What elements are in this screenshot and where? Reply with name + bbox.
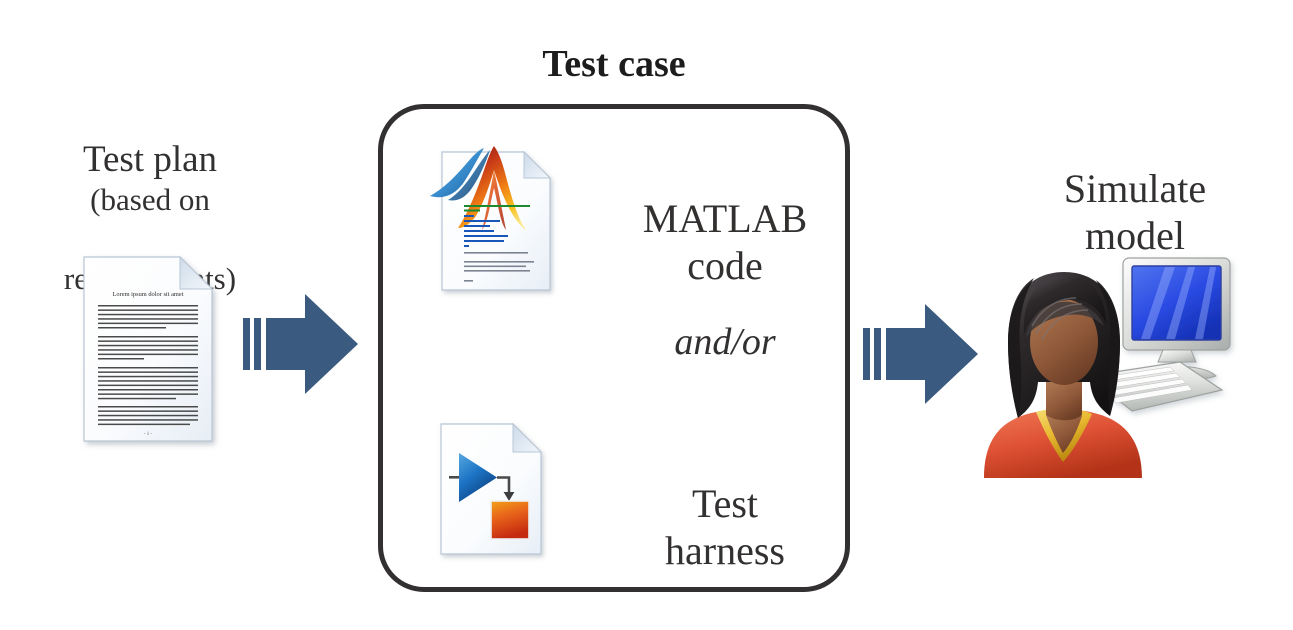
matlab-code-label: MATLAB code: [600, 150, 850, 336]
user-at-computer-icon: [960, 250, 1260, 480]
test-harness-label-line1: Test: [692, 481, 758, 526]
matlab-code-label-line1: MATLAB: [643, 196, 807, 241]
diagram-canvas: Test plan (based on requirements): [0, 0, 1293, 630]
document-title: Lorem ipsum dolor sit amet: [113, 291, 184, 298]
matlab-code-label-line2: code: [600, 243, 850, 289]
and-or-label: and/or: [600, 320, 850, 364]
test-plan-label-line2: (based on: [0, 182, 300, 218]
document-icon: Lorem ipsum dolor sit amet -: [82, 255, 218, 445]
test-case-title: Test case: [378, 42, 850, 86]
matlab-file-icon: [428, 144, 558, 296]
test-plan-label-line1: Test plan: [83, 139, 217, 180]
simulink-file-icon: [435, 420, 553, 560]
test-harness-label-line2: harness: [600, 528, 850, 574]
simulate-model-label-line1: Simulate: [1064, 166, 1206, 211]
arrow-test-plan-to-test-case: [243, 292, 361, 396]
test-harness-label: Test harness: [600, 435, 850, 621]
monitor: [1123, 258, 1230, 380]
document-page-number: - 1 -: [144, 432, 153, 437]
